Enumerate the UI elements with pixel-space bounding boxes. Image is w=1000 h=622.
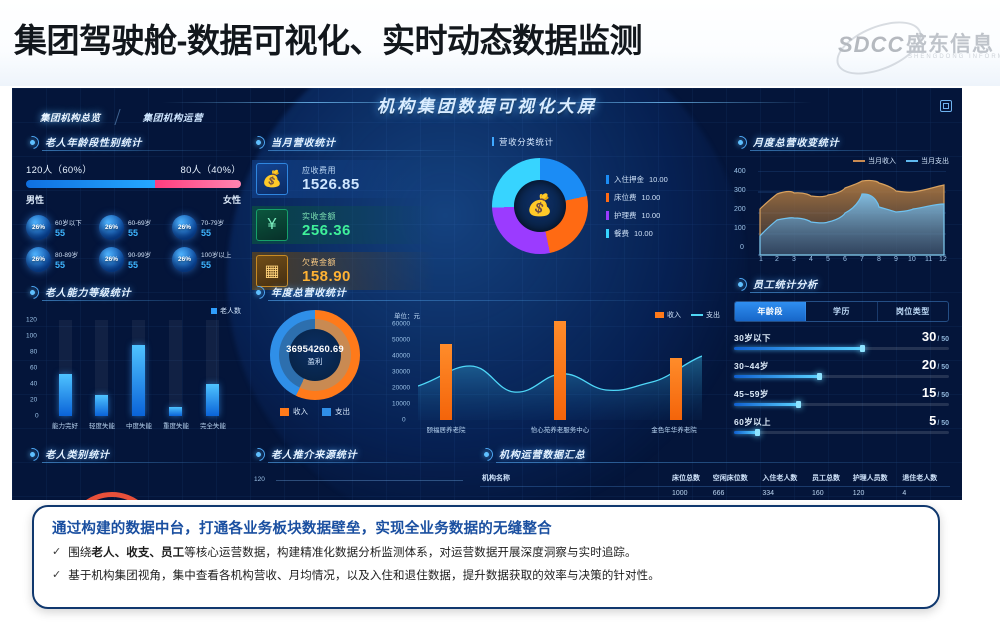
panel-bullet-icon [731, 133, 749, 151]
y-tick: 30000 [392, 369, 410, 376]
text-emphasis: 老人、收支、员工 [91, 547, 184, 559]
legend-value: 10.00 [642, 211, 661, 220]
col-total-staff: 员工总数 [810, 470, 851, 487]
percent-ring-icon: 26% [26, 215, 51, 240]
money-bag-icon: 💰 [492, 158, 588, 254]
bar-fill [206, 384, 219, 416]
age-bracket-item[interactable]: 26% 60岁以下55 [26, 215, 95, 240]
panel-operations-summary: 机构运营数据汇总 机构名称 床位总数 空闲床位数 入住老人数 员工总数 护理人员… [480, 446, 950, 500]
progress-fill [734, 347, 863, 350]
legend-label: 老人数 [220, 306, 241, 316]
panel-header: 员工统计分析 [734, 276, 949, 294]
staff-group-label: 60岁以上 [734, 416, 771, 428]
tab-education[interactable]: 学历 [806, 302, 877, 321]
panel-month-revenue: 当月营收统计 💰 应收费用 1526.85 ¥ 实收金额 256.36 ▦ [252, 134, 467, 290]
staff-group-value: 15/ 50 [922, 385, 949, 400]
staff-stat-row: 30岁以下 30/ 50 [734, 329, 949, 350]
value-total: / 50 [937, 364, 949, 371]
age-range: 100岁以上 [201, 249, 231, 259]
donut-center: 36954260.69 盈利 [270, 310, 360, 400]
cell-departed: 4 [900, 487, 950, 501]
staff-stat-row: 45~59岁 15/ 50 [734, 385, 949, 406]
panel-title: 老人年龄段性别统计 [45, 134, 142, 149]
value-total: / 50 [937, 392, 949, 399]
age-count: 55 [128, 228, 151, 238]
cell-nurses: 120 [851, 487, 901, 501]
percent-text: 26% [32, 224, 45, 231]
legend-swatch [606, 193, 609, 202]
legend-item-income: 当月收入 [853, 156, 896, 166]
panel-monthly-trend: 月度总营收变统计 当月收入 当月支出 400 300 200 100 0 [734, 134, 949, 264]
percent-text: 26% [105, 224, 118, 231]
panel-title: 老人类别统计 [45, 446, 110, 461]
progress-track [734, 375, 949, 378]
panel-title: 当月营收统计 [271, 134, 336, 149]
value-number: 5 [929, 413, 936, 428]
col-total-beds: 床位总数 [670, 470, 711, 487]
category-gauge-chart [26, 474, 241, 500]
staff-group-value: 5/ 50 [929, 413, 949, 428]
staff-group-label: 30~44岁 [734, 360, 769, 372]
profit-value: 36954260.69 [286, 344, 344, 355]
panel-title: 员工统计分析 [753, 276, 818, 291]
panel-bullet-icon [23, 133, 41, 151]
gauge-arc-outer [66, 492, 158, 500]
legend-label: 入住押金 [614, 174, 644, 185]
panel-title: 月度总营收变统计 [753, 134, 839, 149]
y-tick: 200 [734, 206, 746, 213]
callout-text-1: 围绕老人、收支、员工等核心运营数据，构建精准化数据分析监测体系，对运营数据开展深… [68, 546, 636, 561]
age-count: 55 [201, 260, 231, 270]
cell-total-staff: 160 [810, 487, 851, 501]
age-bracket-item[interactable]: 26% 100岁以上55 [172, 247, 241, 272]
legend-label: 支出 [335, 406, 350, 417]
panel-header: 当月营收统计 [252, 134, 467, 152]
institution-revenue-chart: 单位：元 收入 支出 60000 50000 40000 30000 20000… [392, 310, 722, 432]
progress-track [734, 431, 949, 434]
table-row[interactable]: 1000 666 334 160 120 4 [480, 487, 950, 501]
legend-label: 餐费 [614, 228, 629, 239]
tab-age-group[interactable]: 年龄段 [735, 302, 806, 321]
age-range: 60岁以下 [55, 217, 82, 227]
tab-group-overview[interactable]: 集团机构总览 [30, 106, 111, 128]
x-tick: 6 [843, 256, 847, 263]
card-label: 欠费金额 [302, 257, 467, 268]
panel-annual-revenue: 年度总营收统计 36954260.69 盈利 收入 [252, 284, 722, 432]
age-count: 55 [128, 260, 151, 270]
x-tick: 12 [939, 256, 947, 263]
col-free-beds: 空闲床位数 [711, 470, 761, 487]
y-tick: 0 [402, 417, 406, 424]
age-count: 55 [55, 260, 78, 270]
cash-box-icon: ¥ [256, 209, 288, 241]
bar-fill [169, 407, 182, 416]
value-total: / 50 [937, 420, 949, 427]
legend-item: 入住押金 10.00 [606, 174, 668, 185]
x-tick: 4 [809, 256, 813, 263]
legend-item: 护理费 10.00 [606, 210, 668, 221]
age-bracket-item[interactable]: 26% 80-89岁55 [26, 247, 95, 272]
y-tick: 120 [254, 476, 265, 483]
col-nurses: 护理人员数 [851, 470, 901, 487]
age-bracket-item[interactable]: 26% 90-99岁55 [99, 247, 168, 272]
legend-item-expense: 当月支出 [906, 156, 949, 166]
progress-fill [734, 375, 820, 378]
legend-swatch [606, 175, 609, 184]
legend-value: 10.00 [634, 229, 653, 238]
panel-header: 老人年龄段性别统计 [26, 134, 241, 152]
y-tick: 20000 [392, 385, 410, 392]
revenue-card-received[interactable]: ¥ 实收金额 256.36 [252, 206, 467, 244]
y-tick: 300 [734, 187, 746, 194]
panel-title: 老人推介来源统计 [271, 446, 357, 461]
female-count: 80人（40%） [181, 162, 241, 176]
panel-header: 老人推介来源统计 [252, 446, 467, 464]
page-title: 集团驾驶舱-数据可视化、实时动态数据监测 [14, 14, 642, 62]
bar-track [169, 320, 182, 416]
value-number: 20 [922, 357, 936, 372]
legend-label: 当月收入 [868, 156, 896, 166]
donut-legend: 收入 支出 [252, 406, 378, 417]
legend-line [906, 160, 918, 162]
cell-total-beds: 1000 [670, 487, 711, 501]
bar-fill [132, 345, 145, 416]
panel-bullet-icon [731, 275, 749, 293]
percent-text: 26% [178, 256, 191, 263]
revenue-category-donut-chart: 💰 [492, 158, 588, 254]
percent-ring-icon: 26% [172, 247, 197, 272]
y-tick: 40000 [392, 353, 410, 360]
female-label: 女性 [223, 193, 241, 206]
logo-company-subtitle: SHENGDONG INFORMATION [908, 54, 1000, 60]
value-total: / 50 [937, 336, 949, 343]
debt-icon: ▦ [256, 255, 288, 287]
staff-group-value: 30/ 50 [922, 329, 949, 344]
text-rest: 等核心运营数据，构建精准化数据分析监测体系，对运营数据开展深度洞察与实时追踪。 [184, 547, 636, 559]
female-segment [155, 180, 241, 188]
y-tick: 400 [734, 168, 746, 175]
age-range: 60-69岁 [128, 217, 151, 227]
cell-institution-name [480, 487, 670, 501]
x-tick: 中度失能 [126, 420, 152, 430]
panel-title: 机构运营数据汇总 [499, 446, 585, 461]
col-departed: 退住老人数 [900, 470, 950, 487]
panel-elder-category: 老人类别统计 [26, 446, 241, 500]
age-range: 80-89岁 [55, 249, 78, 259]
age-count: 55 [55, 228, 82, 238]
legend-label: 床位费 [614, 192, 637, 203]
unit-label: 单位：元 [394, 310, 420, 320]
legend-item: 餐费 10.00 [606, 228, 668, 239]
panel-title: 年度总营收统计 [271, 284, 347, 299]
revenue-card-receivable[interactable]: 💰 应收费用 1526.85 [252, 160, 467, 198]
percent-ring-icon: 26% [99, 215, 124, 240]
panel-bullet-icon [249, 133, 267, 151]
y-tick: 60000 [392, 321, 410, 328]
logo-mark: SDCC [838, 32, 904, 58]
panel-revenue-categories: 营收分类统计 💰 入住押金 10.00 床位费 10.00 [492, 136, 722, 254]
card-value: 256.36 [302, 222, 467, 239]
bar-fill [95, 395, 108, 416]
legend-value: 10.00 [649, 175, 668, 184]
monthly-trend-area-chart: 400 300 200 100 0 [734, 168, 949, 264]
slide-header: 集团驾驶舱-数据可视化、实时动态数据监测 SDCC 盛东信息 SHENGDONG… [0, 0, 1000, 86]
plot-area [418, 316, 702, 420]
percent-text: 26% [105, 256, 118, 263]
legend-swatch [606, 211, 609, 220]
staff-group-label: 30岁以下 [734, 332, 771, 344]
panel-header: 机构运营数据汇总 [480, 446, 950, 464]
text-prefix: 围绕 [68, 547, 91, 559]
age-count: 55 [201, 228, 224, 238]
card-value: 1526.85 [302, 176, 467, 193]
chart-legend: 当月收入 当月支出 [734, 156, 949, 166]
panel-bullet-icon [477, 445, 495, 463]
age-bracket-grid: 26% 60岁以下55 26% 60-69岁55 26% 70-79岁55 26… [26, 215, 241, 272]
x-tick: 9 [894, 256, 898, 263]
panel-age-gender: 老人年龄段性别统计 120人（60%） 80人（40%） 男性 女性 26% 6… [26, 134, 241, 272]
panel-staff-stats: 员工统计分析 年龄段 学历 岗位类型 30岁以下 30/ 50 30~44岁 2… [734, 276, 949, 434]
y-tick: 10000 [392, 401, 410, 408]
x-tick: 11 [925, 256, 932, 263]
col-residents: 入住老人数 [760, 470, 810, 487]
legend-label: 收入 [293, 406, 308, 417]
x-tick: 怡心苑养老服务中心 [531, 424, 590, 434]
x-tick: 5 [826, 256, 830, 263]
x-tick: 10 [908, 256, 916, 263]
summary-callout: 通过构建的数据中台，打通各业务板块数据壁垒，实现全业务数据的无缝整合 ✓ 围绕老… [32, 505, 940, 609]
gender-counts: 120人（60%） 80人（40%） [26, 162, 241, 176]
panel-referral-source: 老人推介来源统计 120 [252, 446, 467, 480]
gender-ratio-bar [26, 180, 241, 188]
male-segment [26, 180, 155, 188]
tab-position-type[interactable]: 岗位类型 [878, 302, 948, 321]
y-tick: 120 [26, 317, 37, 324]
x-tick: 3 [792, 256, 796, 263]
operations-summary-table: 机构名称 床位总数 空闲床位数 入住老人数 员工总数 护理人员数 退住老人数 1… [480, 470, 950, 500]
x-tick: 金色年华养老院 [651, 424, 697, 434]
panel-header: 年度总营收统计 [252, 284, 722, 302]
legend-item-expense: 支出 [322, 406, 350, 417]
panel-capability-level: 老人能力等级统计 老人数 120 100 80 60 40 20 0 [26, 284, 241, 416]
chart-legend: 老人数 [26, 306, 241, 316]
fullscreen-icon[interactable] [940, 100, 952, 112]
percent-ring-icon: 26% [26, 247, 51, 272]
axis-line [276, 480, 463, 481]
donut-legend: 入住押金 10.00 床位费 10.00 护理费 10.00 [606, 174, 668, 239]
card-label: 实收金额 [302, 211, 467, 222]
callout-bullet: ✓ 围绕老人、收支、员工等核心运营数据，构建精准化数据分析监测体系，对运营数据开… [52, 546, 922, 561]
annual-revenue-donut-chart: 36954260.69 盈利 [270, 310, 360, 400]
legend-value: 10.00 [642, 193, 661, 202]
annual-donut-wrap: 36954260.69 盈利 收入 支出 [252, 310, 378, 432]
y-tick: 80 [30, 349, 37, 356]
x-tick: 7 [860, 256, 864, 263]
legend-line [853, 160, 865, 162]
y-tick: 60 [30, 365, 37, 372]
y-tick: 0 [35, 413, 39, 420]
dashboard-screen: 机构集团数据可视化大屏 集团机构总览 集团机构运营 老人年龄段性别统计 120人… [12, 88, 962, 500]
area-chart-svg [758, 171, 946, 257]
legend-swatch [606, 229, 609, 238]
card-value: 158.90 [302, 268, 467, 285]
male-label: 男性 [26, 193, 44, 206]
panel-bullet-icon [249, 283, 267, 301]
panel-bullet-icon [249, 445, 267, 463]
gender-labels: 男性 女性 [26, 193, 241, 206]
staff-filter-tabs: 年龄段 学历 岗位类型 [734, 301, 949, 322]
age-bracket-item[interactable]: 26% 60-69岁55 [99, 215, 168, 240]
percent-text: 26% [32, 256, 45, 263]
callout-text-2: 基于机构集团视角，集中查看各机构营收、月均情况，以及入住和退住数据，提升数据获取… [68, 569, 660, 584]
y-tick: 0 [740, 244, 744, 251]
x-tick: 颐福居养老院 [427, 424, 466, 434]
col-institution-name: 机构名称 [480, 470, 670, 487]
panel-bullet-icon [23, 283, 41, 301]
callout-title: 通过构建的数据中台，打通各业务板块数据壁垒，实现全业务数据的无缝整合 [52, 517, 922, 538]
x-tick: 8 [877, 256, 881, 263]
legend-swatch [280, 408, 289, 416]
panel-title: 老人能力等级统计 [45, 284, 131, 299]
value-number: 30 [922, 329, 936, 344]
x-tick: 1 [759, 256, 763, 263]
x-tick: 完全失能 [200, 420, 226, 430]
tab-separator [114, 109, 129, 125]
bar-fill [59, 374, 72, 416]
bar-institution-3[interactable] [670, 358, 682, 420]
y-tick: 50000 [392, 337, 410, 344]
capability-bar-chart: 120 100 80 60 40 20 0 [48, 320, 234, 416]
staff-stat-row: 30~44岁 20/ 50 [734, 357, 949, 378]
money-bag-icon: 💰 [256, 163, 288, 195]
tab-group-operations[interactable]: 集团机构运营 [133, 106, 214, 128]
y-tick: 100 [734, 225, 746, 232]
legend-item-income: 收入 [280, 406, 308, 417]
legend-item-elder-count: 老人数 [211, 306, 241, 316]
age-bracket-item[interactable]: 26% 70-79岁55 [172, 215, 241, 240]
x-tick: 重度失能 [163, 420, 189, 430]
dashboard-tabs: 集团机构总览 集团机构运营 [30, 106, 213, 128]
progress-fill [734, 403, 799, 406]
percent-ring-icon: 26% [172, 215, 197, 240]
staff-stat-row: 60岁以上 5/ 50 [734, 413, 949, 434]
y-tick: 40 [30, 381, 37, 388]
cell-free-beds: 666 [711, 487, 761, 501]
value-number: 15 [922, 385, 936, 400]
table-header-row: 机构名称 床位总数 空闲床位数 入住老人数 员工总数 护理人员数 退住老人数 [480, 470, 950, 487]
staff-group-value: 20/ 50 [922, 357, 949, 372]
percent-ring-icon: 26% [99, 247, 124, 272]
panel-header: 老人类别统计 [26, 446, 241, 464]
legend-item: 床位费 10.00 [606, 192, 668, 203]
staff-group-label: 45~59岁 [734, 388, 769, 400]
legend-swatch [322, 408, 331, 416]
callout-bullet: ✓ 基于机构集团视角，集中查看各机构营收、月均情况，以及入住和退住数据，提升数据… [52, 569, 922, 584]
age-range: 90-99岁 [128, 249, 151, 259]
legend-label: 当月支出 [921, 156, 949, 166]
progress-track [734, 403, 949, 406]
check-icon: ✓ [52, 569, 61, 582]
panel-header: 月度总营收变统计 [734, 134, 949, 152]
chart-title: 营收分类统计 [492, 136, 722, 148]
slide-root: 集团驾驶舱-数据可视化、实时动态数据监测 SDCC 盛东信息 SHENGDONG… [0, 0, 1000, 622]
legend-label: 护理费 [614, 210, 637, 221]
legend-label: 支出 [706, 310, 720, 320]
y-tick: 100 [26, 333, 37, 340]
x-tick: 能力完好 [52, 420, 78, 430]
male-count: 120人（60%） [26, 162, 92, 176]
panel-header: 老人能力等级统计 [26, 284, 241, 302]
legend-swatch [211, 308, 217, 314]
card-label: 应收费用 [302, 165, 467, 176]
percent-text: 26% [178, 224, 191, 231]
y-tick: 20 [30, 397, 37, 404]
panel-bullet-icon [23, 445, 41, 463]
check-icon: ✓ [52, 546, 61, 559]
progress-track [734, 347, 949, 350]
cell-residents: 334 [760, 487, 810, 501]
x-tick: 2 [775, 256, 779, 263]
bar-institution-1[interactable] [440, 344, 452, 420]
age-range: 70-79岁 [201, 217, 224, 227]
bar-institution-2[interactable] [554, 321, 566, 420]
dashboard-header: 机构集团数据可视化大屏 集团机构总览 集团机构运营 [12, 88, 962, 128]
x-tick: 轻度失能 [89, 420, 115, 430]
profit-label: 盈利 [308, 356, 323, 367]
progress-fill [734, 431, 758, 434]
company-logo: SDCC 盛东信息 SHENGDONG INFORMATION [834, 16, 994, 72]
